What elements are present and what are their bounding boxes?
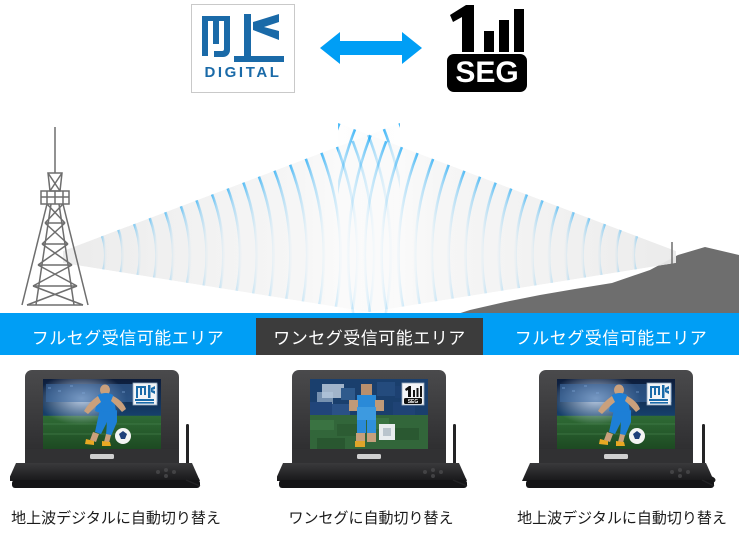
portable-dvd-player-right <box>516 362 723 500</box>
broadcast-scene-svg <box>0 105 739 318</box>
device-caption-center: ワンセグに自動切り替え <box>255 508 487 530</box>
device-caption-left: 地上波デジタルに自動切り替え <box>0 508 232 530</box>
screen-badge-chideji <box>133 383 157 405</box>
screen-badge-oneseg: SEG <box>402 383 424 405</box>
chideji-digital-text: DIGITAL <box>201 64 285 81</box>
chideji-logo-inner: DIGITAL <box>200 12 286 86</box>
1seg-seg-text: SEG <box>447 56 527 90</box>
chideji-logo: DIGITAL <box>191 4 295 93</box>
portable-dvd-player-left <box>10 362 217 500</box>
screen-badge-chideji <box>647 383 671 405</box>
area-label-fullseg-right: フルセグ受信可能エリア <box>483 318 739 355</box>
device-caption-right: 地上波デジタルに自動切り替え <box>505 508 739 530</box>
1seg-signal-icon <box>444 4 540 56</box>
svg-text:SEG: SEG <box>408 399 419 405</box>
1seg-seg-badge: SEG <box>447 54 527 92</box>
diagram-canvas: DIGITAL SEG <box>0 0 739 533</box>
area-label-fullseg-left: フルセグ受信可能エリア <box>0 318 256 355</box>
portable-dvd-player-center: SEG <box>277 362 484 500</box>
double-arrow-icon <box>318 28 424 68</box>
logo-row: DIGITAL SEG <box>0 0 739 105</box>
reception-area-bar: フルセグ受信可能エリア ワンセグ受信可能エリア フルセグ受信可能エリア <box>0 318 739 355</box>
devices-row: SEG <box>0 358 739 533</box>
broadcast-scene <box>0 105 739 318</box>
1seg-logo: SEG <box>444 4 540 94</box>
left-broadcast-tower <box>22 127 88 305</box>
area-label-oneseg-center: ワンセグ受信可能エリア <box>256 318 483 355</box>
chideji-kanji-icon <box>200 12 286 64</box>
